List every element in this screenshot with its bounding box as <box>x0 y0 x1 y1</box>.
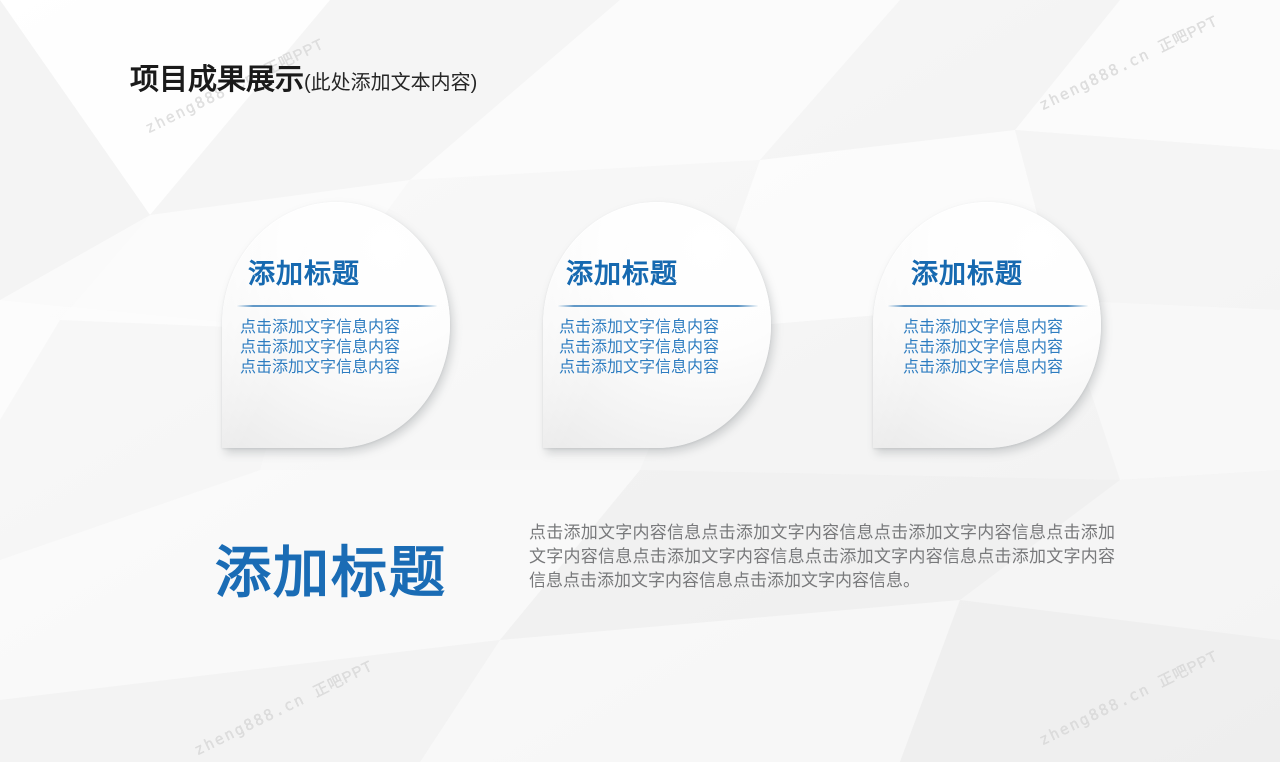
card-title: 添加标题 <box>911 252 1097 291</box>
card-line: 点击添加文字信息内容 <box>559 318 759 338</box>
card-line: 点击添加文字信息内容 <box>240 338 440 358</box>
card-line-list: 点击添加文字信息内容 点击添加文字信息内容 点击添加文字信息内容 <box>240 318 440 378</box>
card-line: 点击添加文字信息内容 <box>559 338 759 358</box>
card-divider <box>888 305 1088 307</box>
card-line: 点击添加文字信息内容 <box>240 318 440 338</box>
card-line-list: 点击添加文字信息内容 点击添加文字信息内容 点击添加文字信息内容 <box>903 318 1103 378</box>
card-line-list: 点击添加文字信息内容 点击添加文字信息内容 点击添加文字信息内容 <box>559 318 759 378</box>
card-title: 添加标题 <box>248 252 434 291</box>
slide-header: 项目成果展示 (此处添加文本内容) <box>130 56 477 98</box>
summary-title: 添加标题 <box>215 528 447 609</box>
card-divider <box>237 305 437 307</box>
card-content: 添加标题 点击添加文字信息内容 点击添加文字信息内容 点击添加文字信息内容 <box>543 202 771 448</box>
page-subtitle: (此处添加文本内容) <box>304 66 477 95</box>
card-line: 点击添加文字信息内容 <box>903 318 1103 338</box>
card-line: 点击添加文字信息内容 <box>240 358 440 378</box>
teardrop-card-3[interactable]: 添加标题 点击添加文字信息内容 点击添加文字信息内容 点击添加文字信息内容 <box>873 202 1101 448</box>
card-title: 添加标题 <box>566 252 752 291</box>
card-content: 添加标题 点击添加文字信息内容 点击添加文字信息内容 点击添加文字信息内容 <box>873 202 1101 448</box>
card-line: 点击添加文字信息内容 <box>903 338 1103 358</box>
summary-paragraph: 点击添加文字内容信息点击添加文字内容信息点击添加文字内容信息点击添加文字内容信息… <box>529 521 1115 593</box>
card-content: 添加标题 点击添加文字信息内容 点击添加文字信息内容 点击添加文字信息内容 <box>222 202 450 448</box>
card-divider <box>558 305 758 307</box>
page-title: 项目成果展示 <box>130 56 304 98</box>
card-line: 点击添加文字信息内容 <box>903 358 1103 378</box>
slide-canvas: zheng888.cn 正吧PPT zheng888.cn 正吧PPT zhen… <box>0 0 1280 762</box>
card-line: 点击添加文字信息内容 <box>559 358 759 378</box>
teardrop-card-1[interactable]: 添加标题 点击添加文字信息内容 点击添加文字信息内容 点击添加文字信息内容 <box>222 202 450 448</box>
teardrop-card-2[interactable]: 添加标题 点击添加文字信息内容 点击添加文字信息内容 点击添加文字信息内容 <box>543 202 771 448</box>
